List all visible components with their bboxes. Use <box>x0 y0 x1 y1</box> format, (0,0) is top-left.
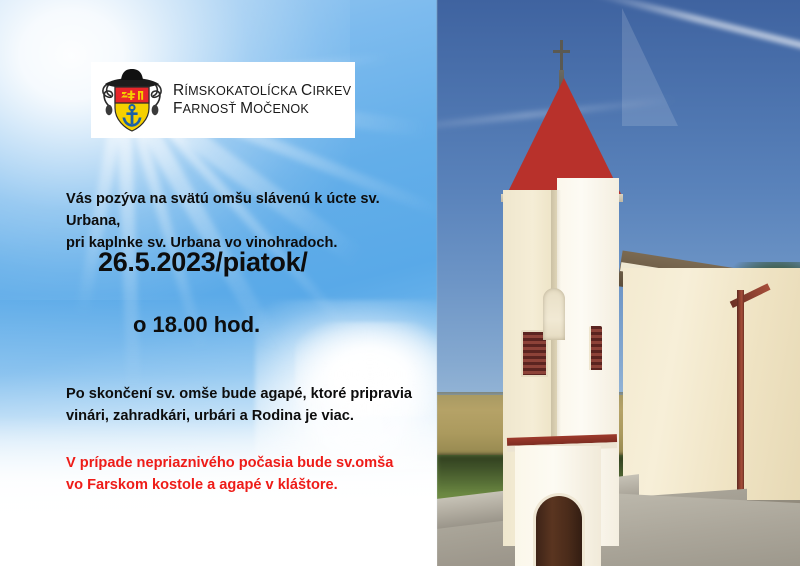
wall-niche <box>543 288 565 340</box>
agape-line-2: vinári, zahradkári, urbári a Rodina je v… <box>66 405 438 427</box>
event-time: o 18.00 hod. <box>133 313 260 337</box>
weather-line-1: V prípade nepriaznivého počasia bude sv.… <box>66 452 438 474</box>
contrail-streak <box>585 0 800 72</box>
agape-line-1: Po skončení sv. omše bude agapé, ktoré p… <box>66 383 438 405</box>
invitation-poster: RÍMSKOKATOLÍCKA CIRKEV FARNOSŤ MOČENOK V… <box>0 0 800 566</box>
parish-logo-text: RÍMSKOKATOLÍCKA CIRKEV FARNOSŤ MOČENOK <box>173 82 351 117</box>
parish-logo-line-1: RÍMSKOKATOLÍCKA CIRKEV <box>173 82 351 100</box>
agape-paragraph: Po skončení sv. omše bude agapé, ktoré p… <box>66 383 438 427</box>
event-date: 26.5.2023/piatok/ <box>98 248 308 278</box>
weather-notice: V prípade nepriaznivého počasia bude sv.… <box>66 452 438 496</box>
cross-icon <box>560 40 563 74</box>
downpipe <box>737 290 744 510</box>
bell-tower <box>503 148 641 548</box>
parish-logo-line-2: FARNOSŤ MOČENOK <box>173 100 351 118</box>
weather-line-2: vo Farskom kostole a agapé v kláštore. <box>66 474 438 496</box>
chapel-door <box>536 496 582 566</box>
invitation-line-1: Vás pozýva na svätú omšu slávenú k úcte … <box>66 188 436 232</box>
spire-highlight <box>622 8 678 126</box>
parish-logo: RÍMSKOKATOLÍCKA CIRKEV FARNOSŤ MOČENOK <box>91 62 355 138</box>
belfry-louver-window-side <box>589 326 602 370</box>
chapel-nave-wall <box>623 268 800 516</box>
chapel-photograph <box>437 0 800 566</box>
invitation-paragraph: Vás pozýva na svätú omšu slávenú k úcte … <box>66 188 436 255</box>
panel-seam <box>436 0 438 566</box>
cross-arm <box>553 50 570 53</box>
coat-of-arms-icon <box>95 63 169 137</box>
